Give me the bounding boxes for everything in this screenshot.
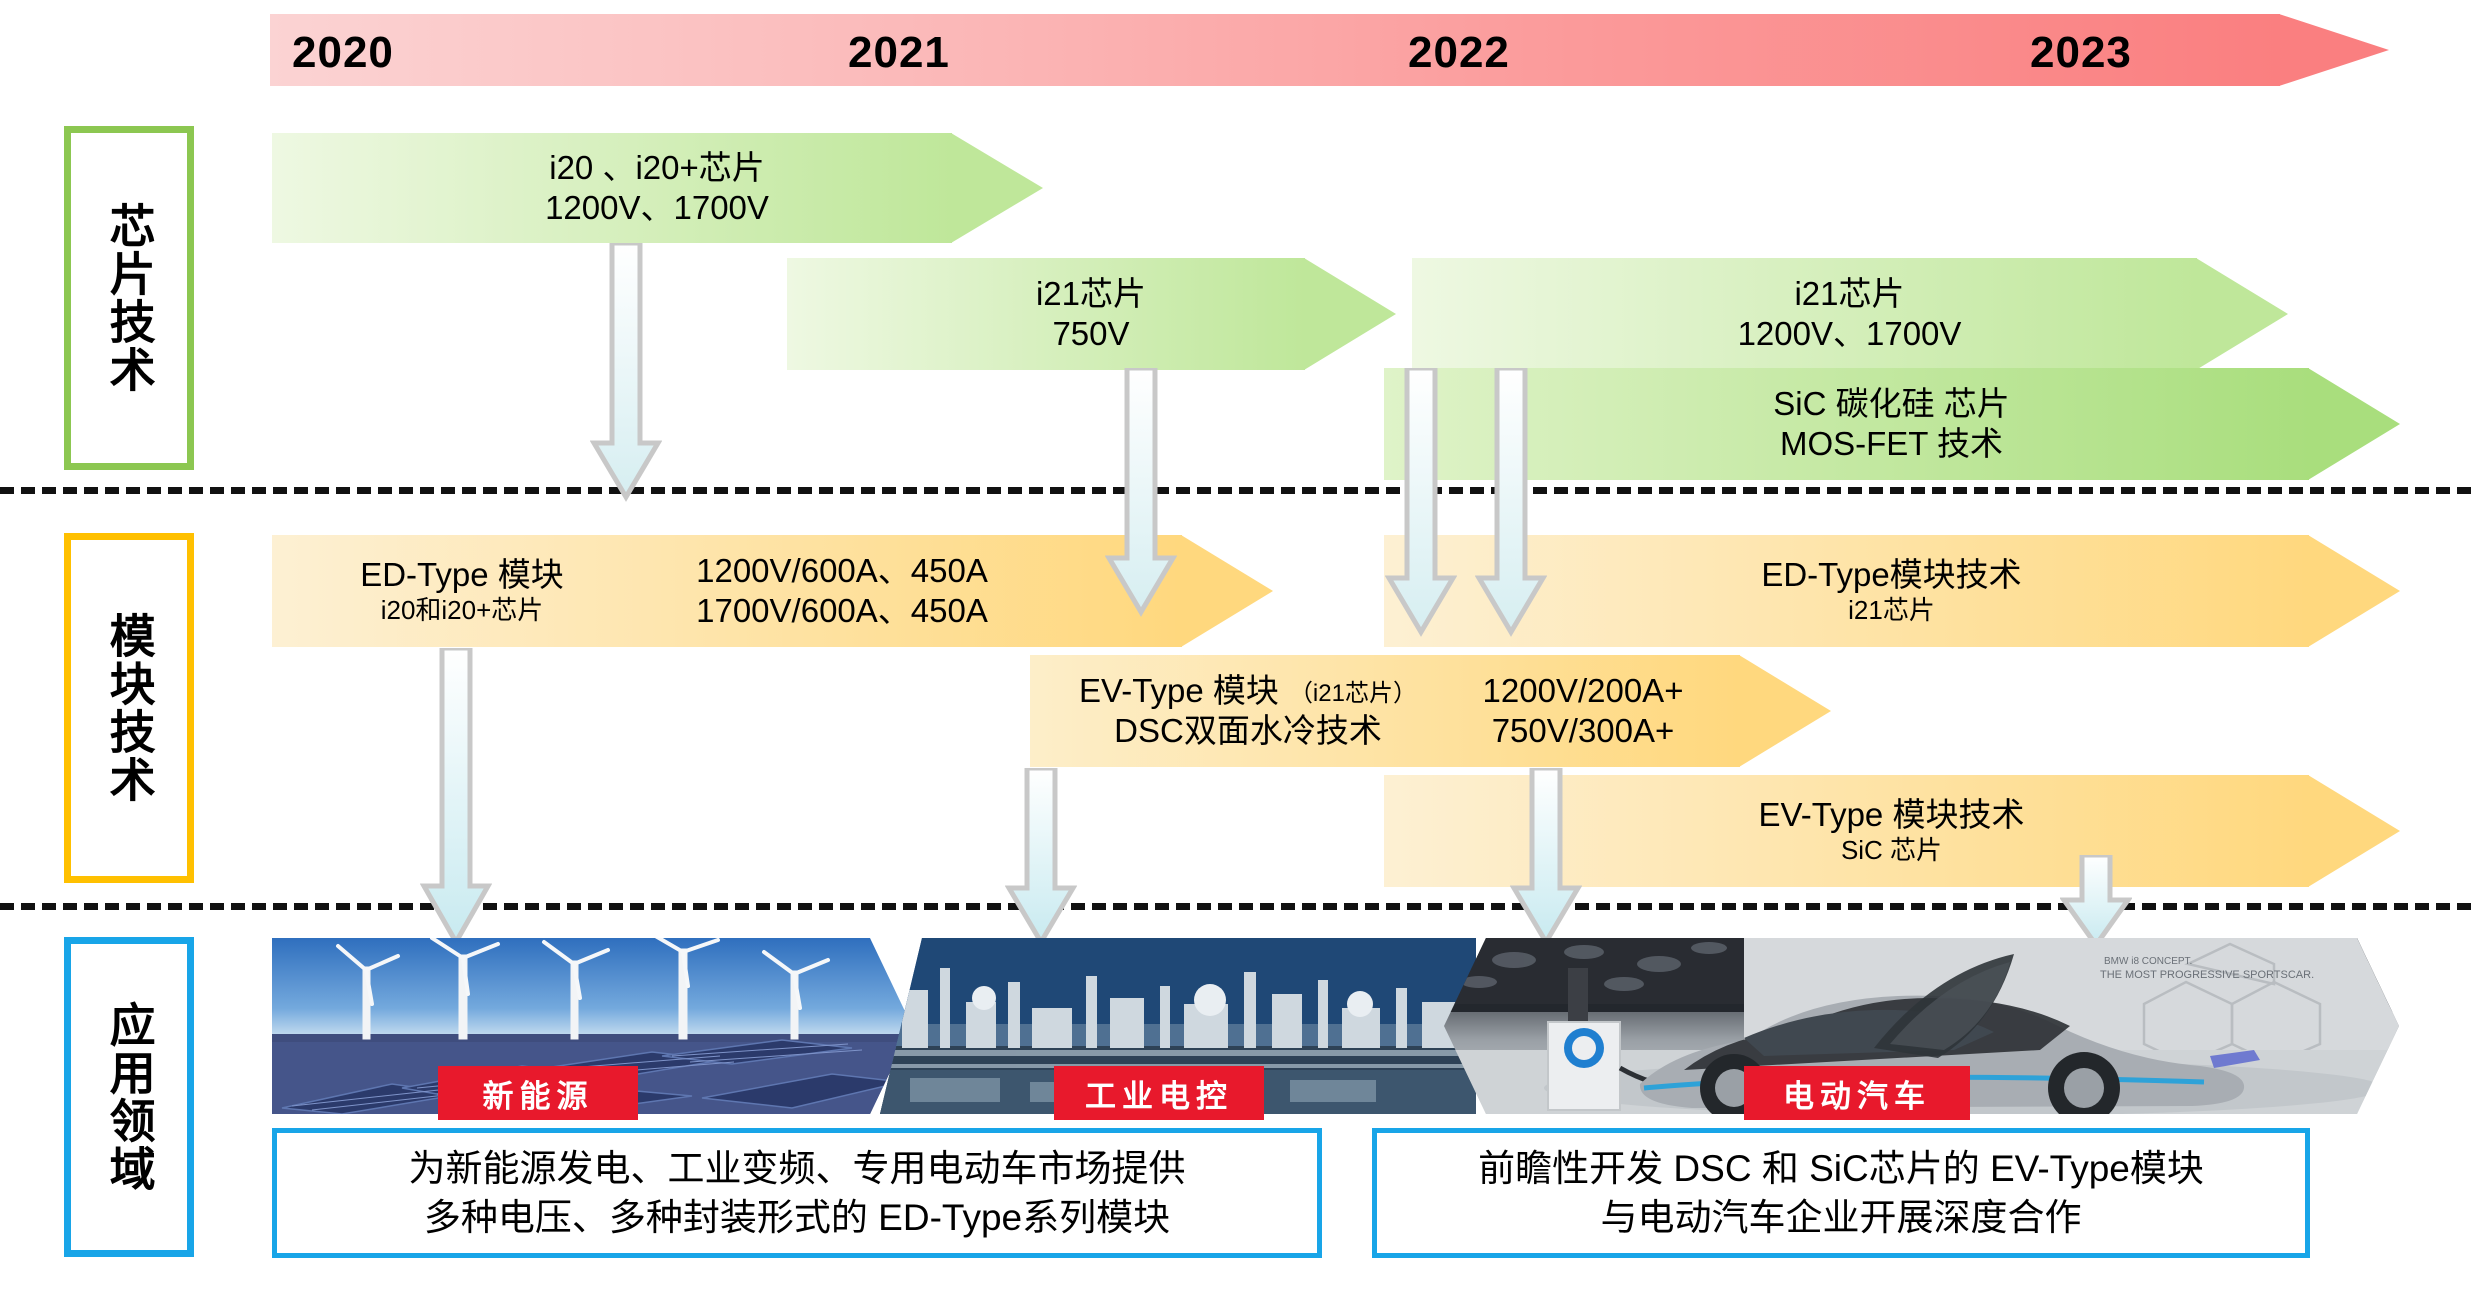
note-left: 为新能源发电、工业变频、专用电动车市场提供 多种电压、多种封装形式的 ED-Ty… <box>272 1128 1322 1258</box>
timeline-header: 2020 2021 2022 2023 <box>270 14 2390 86</box>
badge-industrial-control: 工业电控 <box>1054 1066 1264 1120</box>
timeline-bar <box>270 14 2280 86</box>
separator-chip-module <box>0 487 2471 494</box>
arrow-spec-2: 750V/300A+ <box>1492 711 1675 751</box>
category-label-application: 应用领域 <box>64 937 194 1257</box>
bmw-caption-line-1: BMW i8 CONCEPT. <box>2104 956 2192 967</box>
category-label-module-text: 模块技术 <box>102 612 155 804</box>
module-arrow-ev-type: EV-Type 模块 （i21芯片） DSC双面水冷技术 1200V/200A+… <box>1030 655 1830 767</box>
roadmap-canvas: 2020 2021 2022 2023 芯片技术 模块技术 应用领域 i20 、… <box>0 0 2471 1308</box>
arrow-line-1: EV-Type 模块 <box>1079 671 1279 711</box>
arrow-caption: EV-Type 模块 （i21芯片） DSC双面水冷技术 1200V/200A+… <box>1030 655 1848 767</box>
arrow-line-1: i21芯片 <box>1794 274 1904 314</box>
category-label-chip: 芯片技术 <box>64 126 194 470</box>
year-label-2020: 2020 <box>292 28 394 78</box>
chip-arrow-i20: i20 、i20+芯片 1200V、1700V <box>272 133 1042 243</box>
chip-arrow-i21-1200v: i21芯片 1200V、1700V <box>1412 258 2287 370</box>
year-label-2021: 2021 <box>848 28 950 78</box>
note-left-line-2: 多种电压、多种封装形式的 ED-Type系列模块 <box>424 1193 1170 1242</box>
arrow-line-1: i20 、i20+芯片 <box>549 148 765 188</box>
badge-new-energy-text: 新能源 <box>483 1071 594 1116</box>
badge-electric-vehicle: 电动汽车 <box>1744 1066 1970 1120</box>
arrow-spec-2: 1700V/600A、450A <box>696 591 988 631</box>
note-right: 前瞻性开发 DSC 和 SiC芯片的 EV-Type模块 与电动汽车企业开展深度… <box>1372 1128 2310 1258</box>
arrow-caption-left: ED-Type 模块 i20和i20+芯片 <box>282 555 642 627</box>
arrow-line-2: MOS-FET 技术 <box>1780 424 2003 464</box>
connector-arrow-chip-to-module-2 <box>1105 368 1177 618</box>
arrow-spec-1: 1200V/600A、450A <box>696 551 988 591</box>
arrow-line-2: 1200V、1700V <box>1738 314 1962 354</box>
arrow-caption: i20 、i20+芯片 1200V、1700V <box>272 133 1162 243</box>
connector-arrow-chip-to-module-1 <box>590 243 662 503</box>
arrow-line-2: 1200V、1700V <box>545 188 769 228</box>
connector-arrow-module-to-app-2 <box>1005 768 1077 948</box>
note-right-line-1: 前瞻性开发 DSC 和 SiC芯片的 EV-Type模块 <box>1478 1144 2204 1193</box>
chip-arrow-i21-750v: i21芯片 750V <box>787 258 1395 370</box>
arrow-line-1: ED-Type模块技术 <box>1761 555 2021 595</box>
arrow-line-1-row: EV-Type 模块 （i21芯片） <box>1079 671 1417 711</box>
connector-arrow-chip-to-module-4 <box>1475 368 1547 638</box>
arrow-line-2: i21芯片 <box>1848 595 1935 627</box>
badge-new-energy: 新能源 <box>438 1066 638 1120</box>
arrow-line-1: SiC 碳化硅 芯片 <box>1773 384 2010 424</box>
arrow-caption: ED-Type模块技术 i21芯片 <box>1384 535 2471 647</box>
bmw-caption-line-2: THE MOST PROGRESSIVE SPORTSCAR. <box>2100 969 2314 981</box>
connector-arrow-module-to-app-4 <box>2060 855 2132 950</box>
arrow-line-2: DSC双面水冷技术 <box>1114 711 1382 751</box>
arrow-line-2: 750V <box>1052 314 1129 354</box>
arrow-line-1: ED-Type 模块 <box>360 555 564 595</box>
arrow-line-1-note: （i21芯片） <box>1289 673 1417 708</box>
category-label-chip-text: 芯片技术 <box>102 202 155 394</box>
timeline-arrow-tip <box>2279 14 2389 86</box>
arrow-caption-right: 1200V/600A、450A 1700V/600A、450A <box>642 551 1042 632</box>
arrow-line-1: i21芯片 <box>1036 274 1146 314</box>
category-label-application-text: 应用领域 <box>102 1001 155 1193</box>
category-label-module: 模块技术 <box>64 533 194 883</box>
arrow-line-2: i20和i20+芯片 <box>381 595 544 627</box>
connector-arrow-chip-to-module-3 <box>1385 368 1457 638</box>
arrow-line-1: EV-Type 模块技术 <box>1759 795 2025 835</box>
year-label-2023: 2023 <box>2030 28 2132 78</box>
note-right-line-2: 与电动汽车企业开展深度合作 <box>1601 1193 2082 1242</box>
arrow-caption-right: 1200V/200A+ 750V/300A+ <box>1448 671 1718 752</box>
arrow-spec-1: 1200V/200A+ <box>1483 671 1684 711</box>
badge-electric-vehicle-text: 电动汽车 <box>1783 1071 1931 1116</box>
arrow-line-2: SiC 芯片 <box>1841 835 1942 867</box>
year-label-2022: 2022 <box>1408 28 1510 78</box>
arrow-caption-left: EV-Type 模块 （i21芯片） DSC双面水冷技术 <box>1048 671 1448 752</box>
note-left-line-1: 为新能源发电、工业变频、专用电动车市场提供 <box>409 1144 1186 1193</box>
badge-industrial-control-text: 工业电控 <box>1085 1071 1233 1116</box>
arrow-caption: i21芯片 750V <box>787 258 1505 370</box>
arrow-caption: i21芯片 1200V、1700V <box>1412 258 2471 370</box>
arrow-caption: SiC 碳化硅 芯片 MOS-FET 技术 <box>1384 368 2471 480</box>
connector-arrow-module-to-app-1 <box>420 648 492 948</box>
connector-arrow-module-to-app-3 <box>1510 768 1582 948</box>
